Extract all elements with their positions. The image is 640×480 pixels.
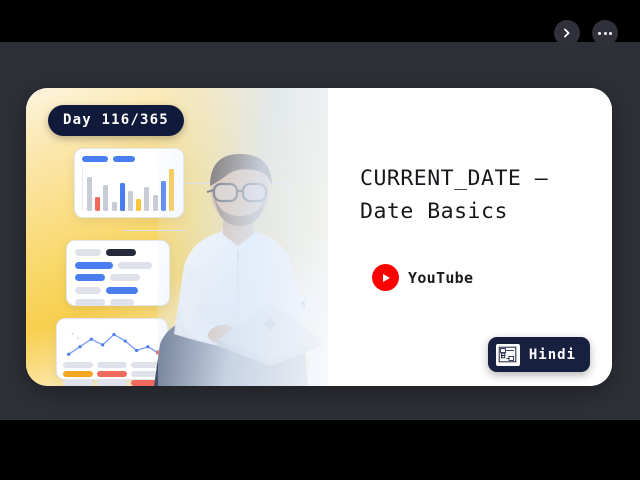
bar — [136, 199, 141, 211]
youtube-play-icon — [372, 264, 399, 291]
line-card-pill — [97, 371, 127, 377]
slide-stage: B1l e. — [0, 0, 640, 480]
translate-slide-icon — [496, 344, 520, 366]
bar-chart-legend — [82, 156, 176, 162]
list-pill — [106, 287, 138, 294]
bar — [95, 197, 100, 211]
line-card-pill — [63, 362, 93, 368]
yellow-accent-card — [235, 238, 287, 290]
pie-chart-svg — [269, 345, 313, 385]
pie-slice-yellow — [291, 346, 309, 377]
page-title: CURRENT_DATE — Date Basics — [360, 162, 610, 228]
decorative-ring-icon — [241, 310, 258, 327]
list-pill — [75, 299, 105, 306]
line-card-pill — [97, 362, 127, 368]
language-badge[interactable]: Hindi — [488, 337, 590, 372]
bar-chart-card — [74, 148, 184, 218]
bar — [103, 185, 108, 211]
list-pill — [75, 249, 101, 256]
line-card-pill — [63, 380, 93, 386]
list-pill — [106, 249, 136, 256]
bar — [120, 183, 125, 211]
line-card-pill — [63, 371, 93, 377]
pie-slice-blue — [273, 346, 291, 368]
content-card: B1l e. — [26, 88, 612, 386]
line-card-pill — [97, 380, 127, 386]
connector-line — [184, 183, 246, 184]
next-slide-button[interactable] — [554, 20, 580, 46]
person-with-laptop-photo — [144, 148, 328, 386]
ellipsis-icon — [598, 32, 612, 35]
list-pill — [75, 274, 105, 281]
more-options-button[interactable] — [592, 20, 618, 46]
list-pill — [75, 262, 113, 269]
connector-line — [245, 183, 291, 245]
arrow-up-right-icon — [287, 299, 309, 317]
platform-label: YouTube — [408, 269, 473, 287]
bar — [169, 169, 174, 211]
platform-row: YouTube — [372, 264, 473, 291]
decorative-ring-icon — [308, 372, 323, 386]
pie-chart-card — [262, 338, 318, 386]
list-pill — [110, 299, 134, 306]
list-pill — [110, 274, 140, 281]
decorative-ring-icon — [248, 228, 259, 239]
bar — [128, 191, 133, 211]
callout-label-text: B1l e. — [263, 303, 285, 313]
connector-line — [276, 353, 306, 386]
callout-label-box: B1l e. — [256, 296, 318, 320]
bar-chart-bars — [82, 167, 176, 211]
list-pill — [75, 287, 101, 294]
bar — [87, 177, 92, 211]
pie-slice-navy — [273, 364, 303, 382]
chevron-right-icon — [562, 28, 572, 38]
bar — [161, 181, 166, 211]
day-counter-badge: Day 116/365 — [48, 105, 184, 136]
language-label: Hindi — [529, 347, 576, 363]
bar — [112, 202, 117, 211]
